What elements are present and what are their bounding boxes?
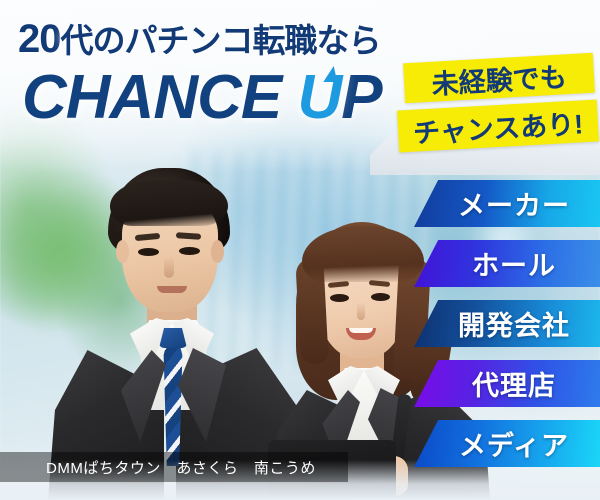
- female-nose: [357, 302, 365, 320]
- female-eye-left: [330, 294, 349, 302]
- headline-rest: 代のパチンコ転職なら: [61, 22, 381, 59]
- headline-number: 20: [18, 17, 61, 61]
- credit-text: DMMぱちタウン あさくら 南こうめ: [0, 457, 316, 478]
- category-tag-development-company[interactable]: 開発会社: [414, 300, 600, 347]
- category-tag-media[interactable]: メディア: [414, 420, 600, 467]
- male-ear-right: [211, 240, 224, 263]
- category-tag-development-company-label: 開発会社: [444, 304, 570, 343]
- female-hair-fringe: [302, 226, 424, 282]
- female-eye-right: [371, 293, 390, 301]
- page-title: 20代のパチンコ転職なら: [18, 14, 381, 62]
- category-tag-hall[interactable]: ホール: [414, 240, 600, 287]
- category-tag-agency-label: 代理店: [458, 364, 556, 403]
- brand-logo: CHANCE UP: [22, 62, 382, 133]
- recruitment-banner: 20代のパチンコ転職なら CHANCE UP 未経験でも チャンスあり! メーカ…: [0, 0, 600, 500]
- category-tag-media-label: メディア: [445, 424, 569, 463]
- badge-chance-available-label: チャンスあり!: [412, 102, 584, 150]
- badge-no-experience-label: 未経験でも: [431, 55, 568, 101]
- category-tag-hall-label: ホール: [458, 244, 556, 283]
- male-eye-right: [179, 247, 200, 255]
- male-hair-fringe: [110, 180, 228, 226]
- logo-up-p: P: [341, 63, 381, 132]
- male-mouth: [157, 286, 187, 293]
- logo-chance-text: CHANCE: [22, 63, 281, 132]
- category-tag-maker-label: メーカー: [444, 184, 570, 223]
- female-teeth: [349, 328, 373, 333]
- male-ear-left: [116, 240, 129, 263]
- credit-bar: DMMぱちタウン あさくら 南こうめ: [0, 452, 348, 482]
- category-tag-maker[interactable]: メーカー: [414, 180, 600, 227]
- male-eye-left: [138, 248, 159, 256]
- male-nose: [164, 256, 174, 278]
- category-tag-agency[interactable]: 代理店: [414, 360, 600, 407]
- logo-up-u-arrow-icon: U: [297, 62, 341, 133]
